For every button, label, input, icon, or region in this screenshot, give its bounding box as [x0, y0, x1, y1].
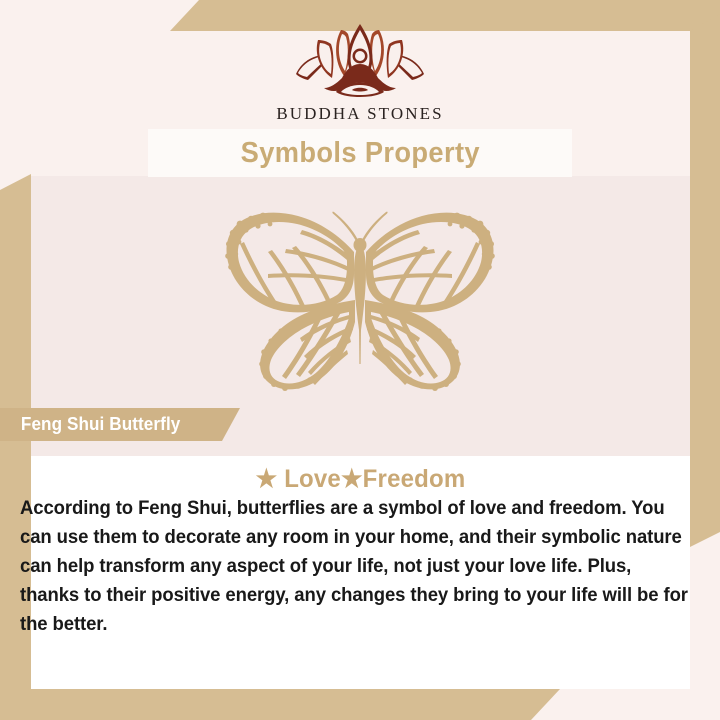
- brand-logo: BUDDHA STONES: [0, 22, 720, 124]
- body-paragraph: According to Feng Shui, butterflies are …: [20, 494, 690, 639]
- subheading: ★ Love★Freedom: [44, 464, 677, 494]
- gold-frame-bottom: [0, 689, 560, 720]
- page-title: Symbols Property: [240, 137, 479, 170]
- brand-name: BUDDHA STONES: [0, 104, 720, 124]
- page-title-bar: Symbols Property: [148, 129, 572, 177]
- ribbon-label: Feng Shui Butterfly: [0, 414, 180, 435]
- feng-shui-ribbon: Feng Shui Butterfly: [0, 408, 240, 441]
- poster-root: BUDDHA STONES Symbols Property: [0, 0, 720, 720]
- lotus-meditation-icon: [284, 22, 436, 98]
